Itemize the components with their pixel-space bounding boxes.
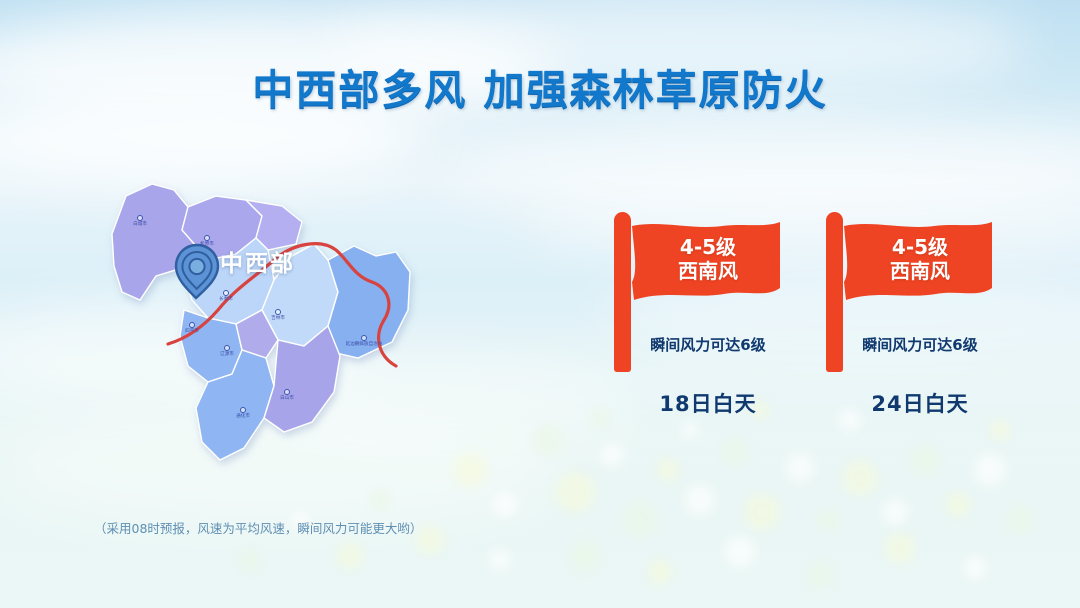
bokeh-circle: [990, 420, 1010, 440]
forecast-card-1: 4-5级 西南风 瞬间风力可达6级 18日白天: [600, 212, 820, 422]
flag-wind-text: 4-5级 西南风: [638, 236, 778, 283]
map-city-dot: [204, 235, 210, 241]
map-city-label: 白城市: [133, 222, 147, 227]
bokeh-circle: [946, 493, 970, 517]
bokeh-circle: [623, 503, 657, 537]
map-city-dot: [361, 335, 367, 341]
bokeh-circle: [600, 443, 624, 467]
map-city-label: 吉林市: [271, 316, 285, 321]
map-city-label: 延边朝鲜族自治州: [346, 342, 383, 347]
map-city-dot: [275, 309, 281, 315]
wind-level: 4-5级: [638, 236, 778, 260]
bokeh-circle: [1007, 507, 1033, 533]
cloud-band: [430, 118, 1080, 213]
forecast-day: 24日白天: [812, 388, 1028, 418]
map-city-label: 白山市: [280, 396, 294, 401]
map-city-label: 四平市: [185, 329, 199, 334]
map-city-dot: [224, 345, 230, 351]
bokeh-circle: [722, 439, 748, 465]
bokeh-circle: [843, 461, 877, 495]
bokeh-circle: [555, 472, 595, 512]
bokeh-circle: [453, 453, 487, 487]
flag-wind-text: 4-5级 西南风: [850, 236, 990, 283]
map-city-dot: [284, 389, 290, 395]
region-map: 中西部 白城市松原市长春市四平市辽源市吉林市延边朝鲜族自治州通化市白山市: [96, 160, 426, 480]
map-city-dot: [240, 407, 246, 413]
bokeh-circle: [807, 562, 833, 588]
map-city-dot: [137, 215, 143, 221]
map-shapes: [96, 160, 426, 480]
map-city-label: 辽源市: [220, 352, 234, 357]
bokeh-circle: [744, 494, 780, 530]
bokeh-circle: [492, 492, 518, 518]
bokeh-circle: [239, 549, 261, 571]
page-title: 中西部多风 加强森林草原防火: [0, 56, 1080, 116]
bokeh-circle: [337, 543, 363, 569]
wind-direction: 西南风: [638, 260, 778, 284]
bokeh-circle: [724, 536, 756, 568]
wind-level: 4-5级: [850, 236, 990, 260]
bokeh-circle: [570, 541, 600, 571]
forecast-day: 18日白天: [600, 388, 816, 418]
bokeh-circle: [974, 454, 1006, 486]
map-city-dot: [223, 290, 229, 296]
bokeh-circle: [885, 533, 915, 563]
gust-note: 瞬间风力可达6级: [812, 334, 1028, 355]
bokeh-circle: [817, 509, 839, 531]
forecast-card-2: 4-5级 西南风 瞬间风力可达6级 24日白天: [812, 212, 1032, 422]
wind-direction: 西南风: [850, 260, 990, 284]
bokeh-circle: [370, 490, 390, 510]
bokeh-circle: [489, 549, 511, 571]
bokeh-circle: [682, 422, 698, 438]
bokeh-circle: [657, 459, 679, 481]
map-city-label: 长春市: [219, 297, 233, 302]
gust-note: 瞬间风力可达6级: [600, 334, 816, 355]
bokeh-circle: [963, 556, 987, 580]
map-city-label: 松原市: [200, 242, 214, 247]
weather-infographic: 中西部多风 加强森林草原防火: [0, 0, 1080, 608]
location-pin-icon: [174, 243, 220, 300]
map-city-label: 通化市: [236, 414, 250, 419]
footnote: （采用08时预报，风速为平均风速，瞬间风力可能更大哟）: [94, 518, 422, 537]
map-region-label: 中西部: [220, 244, 295, 278]
map-city-dot: [189, 322, 195, 328]
bokeh-circle: [533, 425, 563, 455]
bokeh-circle: [685, 485, 715, 515]
bokeh-circle: [910, 445, 940, 475]
bokeh-circle: [786, 454, 814, 482]
bokeh-circle: [882, 499, 908, 525]
bokeh-circle: [648, 560, 672, 584]
